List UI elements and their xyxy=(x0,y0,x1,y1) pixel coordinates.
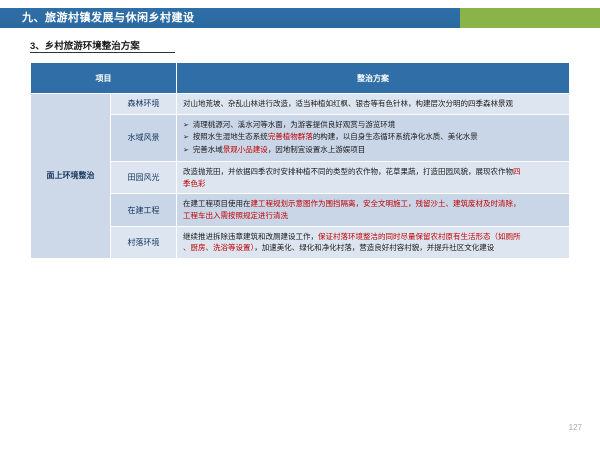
content-text: 清理桃源河、溪水河等水面，为游客提供良好观赏与游览环境 xyxy=(193,120,396,129)
row-content: 对山地荒坡、杂乱山林进行改造，适当种植如红枫、银杏等有色针林，构建层次分明的四季… xyxy=(177,94,570,115)
content-highlight-text: 完善植物群落 xyxy=(268,132,313,141)
row-item-label: 村落环境 xyxy=(111,226,177,258)
content-highlight-text: 建工程规划示意图作为围挡隔离，安全文明施工，残留沙土、建筑废材及时清除， xyxy=(251,199,521,208)
content-line: ➢ 完善水域景观小品建设，因地制宜设置水上游娱项目 xyxy=(183,144,563,157)
table-header-item: 项目 xyxy=(31,63,177,94)
table-row: 面上环境整治森林环境对山地荒坡、杂乱山林进行改造，适当种植如红枫、银杏等有色针林… xyxy=(31,94,570,115)
content-text: 对山地荒坡、杂乱山林进行改造，适当种植如红枫、银杏等有色针林，构建层次分明的四季… xyxy=(183,99,513,108)
content-text: ，因地制宜设置水上游娱项目 xyxy=(268,145,366,154)
content-line: 改造抛荒田，并依据四季农时安排种植不同的类型的农作物，花草果蔬，打造田园风貌，展… xyxy=(183,166,563,178)
row-content: 改造抛荒田，并依据四季农时安排种植不同的类型的农作物，花草果蔬，打造田园风貌，展… xyxy=(177,162,570,194)
content-line: ➢ 清理桃源河、溪水河等水面，为游客提供良好观赏与游览环境 xyxy=(183,119,563,132)
content-line: 继续推进拆除违章建筑和改厕建设工作，保证村落环境整洁的同时尽量保留农村原有生活形… xyxy=(183,231,563,243)
content-line: 工程车出入需按照规定进行清洗 xyxy=(183,210,563,222)
content-highlight-text: 季色彩 xyxy=(183,179,206,188)
content-highlight-text: 四 xyxy=(513,167,521,176)
content-text: 完善水域 xyxy=(193,145,223,154)
table-row: 在建工程在建工程项目使用在建工程规划示意图作为围挡隔离，安全文明施工，残留沙土、… xyxy=(31,194,570,226)
content-highlight-text: 保证村落环境整洁的同时尽量保留农村原有生活形态（如厕所 xyxy=(318,232,521,241)
content-highlight-text: 、厨房、洗浴等设置） xyxy=(183,243,254,252)
content-text: 继续推进拆除违章建筑和改厕建设工作， xyxy=(183,232,318,241)
content-text: 在建工程项目使用在 xyxy=(183,199,251,208)
row-content: ➢ 清理桃源河、溪水河等水面，为游客提供良好观赏与游览环境➢ 按照水生湿地生态系… xyxy=(177,114,570,162)
content-highlight-text: 景观小品建设 xyxy=(223,145,268,154)
content-line: 、厨房、洗浴等设置），加速美化、绿化和净化村落，营造良好村容村貌，并提升社区文化… xyxy=(183,242,563,254)
content-line: 季色彩 xyxy=(183,178,563,190)
content-line: ➢ 按照水生湿地生态系统完善植物群落的构建，以自身生态循环系统净化水质、美化水景 xyxy=(183,131,563,144)
section-title: 3、乡村旅游环境整治方案 xyxy=(30,38,140,52)
table-header-plan: 整治方案 xyxy=(177,63,570,94)
bullet-arrow-icon: ➢ xyxy=(183,122,191,129)
content-text: 按照水生湿地生态系统 xyxy=(193,132,268,141)
environment-plan-table-wrap: 项目 整治方案 面上环境整治森林环境对山地荒坡、杂乱山林进行改造，适当种植如红枫… xyxy=(30,62,570,259)
bullet-arrow-icon: ➢ xyxy=(183,147,191,154)
row-item-label: 森林环境 xyxy=(111,94,177,115)
table-body: 面上环境整治森林环境对山地荒坡、杂乱山林进行改造，适当种植如红枫、银杏等有色针林… xyxy=(31,94,570,259)
row-item-label: 田园风光 xyxy=(111,162,177,194)
table-row: 村落环境继续推进拆除违章建筑和改厕建设工作，保证村落环境整洁的同时尽量保留农村原… xyxy=(31,226,570,258)
content-text: 改造抛荒田，并依据四季农时安排种植不同的类型的农作物，花草果蔬，打造田园风貌，展… xyxy=(183,167,513,176)
header-title: 九、旅游村镇发展与休闲乡村建设 xyxy=(22,8,195,28)
page-number: 127 xyxy=(569,423,582,432)
section-underline xyxy=(30,52,175,53)
table-header-row: 项目 整治方案 xyxy=(31,63,570,94)
row-content: 在建工程项目使用在建工程规划示意图作为围挡隔离，安全文明施工，残留沙土、建筑废材… xyxy=(177,194,570,226)
header-banner-accent xyxy=(460,8,600,28)
bullet-arrow-icon: ➢ xyxy=(183,134,191,141)
content-text: 的构建，以自身生态循环系统净化水质、美化水景 xyxy=(313,132,478,141)
content-line: 对山地荒坡、杂乱山林进行改造，适当种植如红枫、银杏等有色针林，构建层次分明的四季… xyxy=(183,98,563,110)
row-group-label: 面上环境整治 xyxy=(31,94,111,259)
row-item-label: 在建工程 xyxy=(111,194,177,226)
bottom-band xyxy=(0,446,600,450)
table-row: 田园风光改造抛荒田，并依据四季农时安排种植不同的类型的农作物，花草果蔬，打造田园… xyxy=(31,162,570,194)
table-row: 水域风景➢ 清理桃源河、溪水河等水面，为游客提供良好观赏与游览环境➢ 按照水生湿… xyxy=(31,114,570,162)
row-item-label: 水域风景 xyxy=(111,114,177,162)
content-text: ，加速美化、绿化和净化村落，营造良好村容村貌，并提升社区文化建设 xyxy=(254,243,494,252)
row-content: 继续推进拆除违章建筑和改厕建设工作，保证村落环境整洁的同时尽量保留农村原有生活形… xyxy=(177,226,570,258)
content-line: 在建工程项目使用在建工程规划示意图作为围挡隔离，安全文明施工，残留沙土、建筑废材… xyxy=(183,198,563,210)
environment-plan-table: 项目 整治方案 面上环境整治森林环境对山地荒坡、杂乱山林进行改造，适当种植如红枫… xyxy=(30,62,570,259)
content-highlight-text: 工程车出入需按照规定进行清洗 xyxy=(183,211,288,220)
